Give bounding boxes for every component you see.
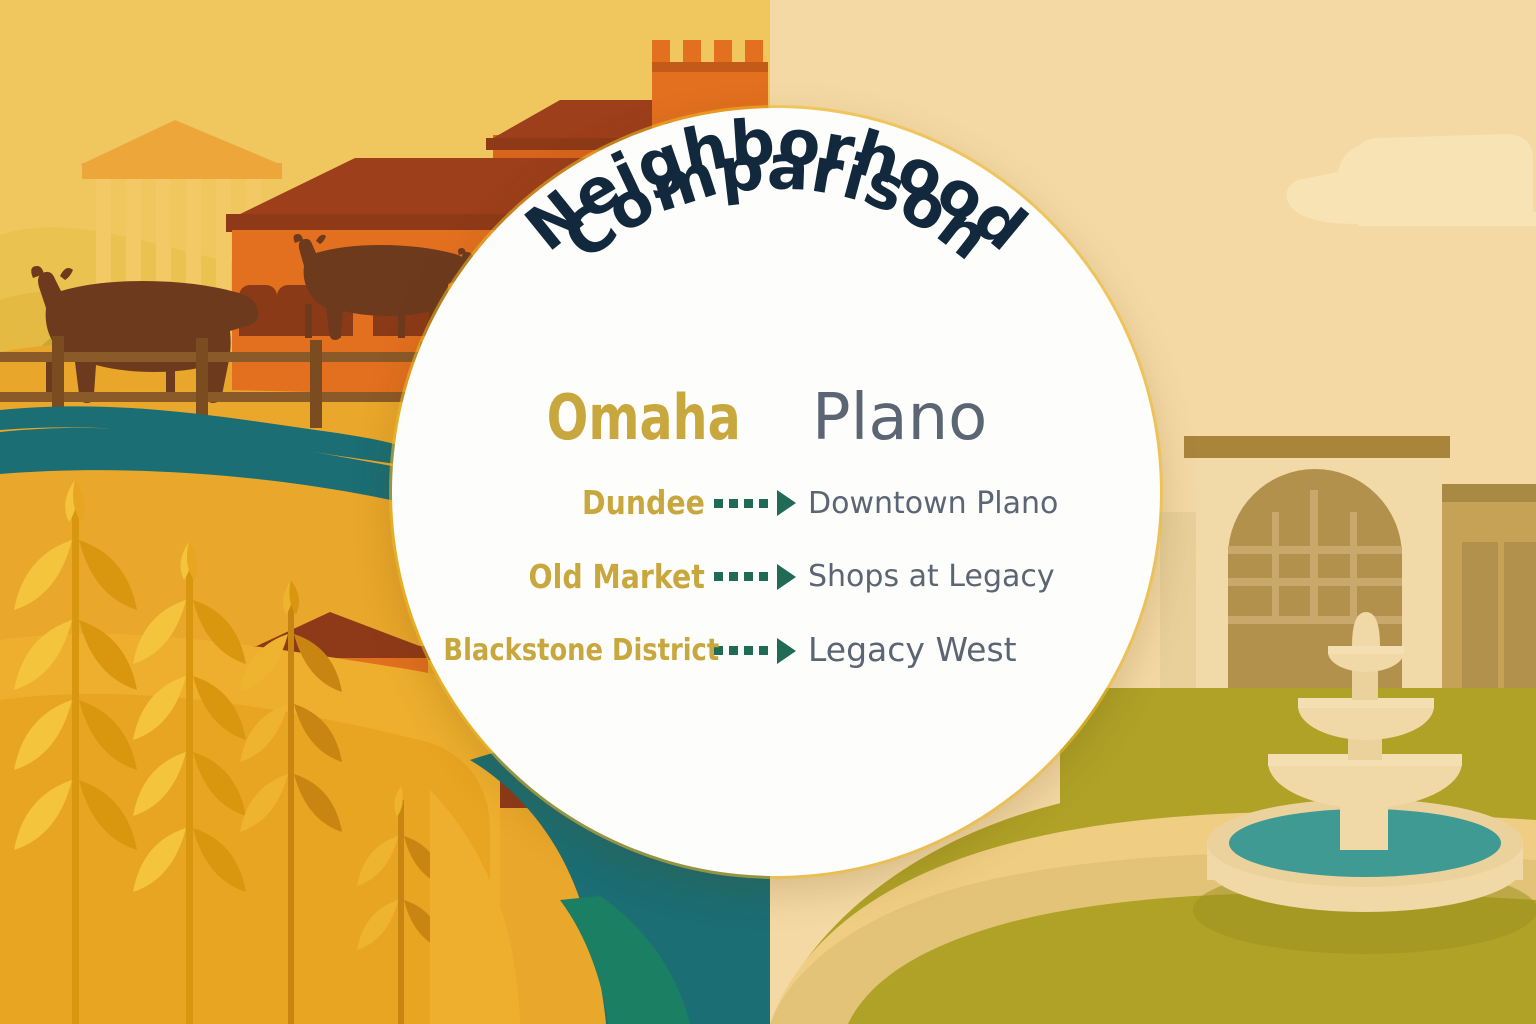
mapping-row-left-label: Dundee [443,486,710,521]
mapping-row-right-label: Legacy West [800,633,1152,668]
arrow-dot [729,499,738,508]
arrow-head-icon [777,490,796,516]
infographic-canvas: Neighborhood Comparison Omaha Plano Dund… [0,0,1536,1024]
mapping-row: Dundee Downtown Plano [400,486,1152,521]
arrow-dot [729,646,738,655]
arrow-dot [759,499,768,508]
mapping-row: Old Market Shops at Legacy [400,560,1152,595]
dotted-arrow-icon [710,566,800,588]
city-header-right: Plano [794,386,1112,450]
arrow-dot [759,646,768,655]
mapping-row: Blackstone District Legacy West [400,633,1152,668]
dotted-arrow-icon [710,640,800,662]
dotted-arrow-icon [710,492,800,514]
mapping-row-right-label: Downtown Plano [800,488,1152,520]
arrow-head-icon [777,564,796,590]
arrow-dot [744,572,753,581]
arrow-dot [744,646,753,655]
mapping-row-left-label: Old Market [443,560,710,595]
arrow-head-icon [777,638,796,664]
arrow-dot [759,572,768,581]
city-header-left: Omaha [477,387,746,449]
mapping-row-right-label: Shops at Legacy [800,561,1152,593]
mapping-row-left-label: Blackstone District [443,635,710,667]
arrow-dot [714,499,723,508]
city-headers: Omaha Plano [400,372,1152,464]
arrow-dot [729,572,738,581]
arrow-dot [714,572,723,581]
neighborhood-mapping-list: Dundee Downtown Plano Old Market Shops a… [400,486,1152,668]
arrow-dot [744,499,753,508]
